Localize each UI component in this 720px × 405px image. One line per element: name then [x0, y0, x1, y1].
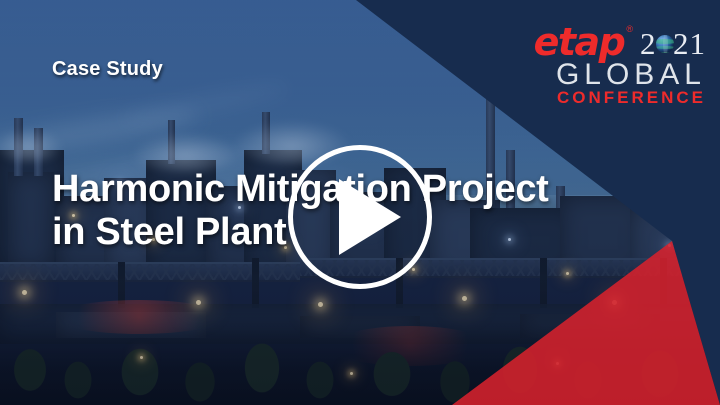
- registered-trademark-icon: ®: [626, 24, 633, 34]
- etap-global-conference-logo: etap ® 2021 GLOBAL CONFERENCE: [514, 22, 706, 107]
- year-suffix: 21: [673, 26, 706, 61]
- logo-top-row: etap ® 2021: [514, 22, 706, 58]
- logo-global-text: GLOBAL: [514, 59, 706, 91]
- year-prefix: 2: [640, 26, 657, 61]
- eyebrow-label: Case Study: [52, 58, 163, 81]
- logo-conference-text: CONFERENCE: [514, 89, 706, 108]
- play-button[interactable]: [288, 145, 432, 289]
- video-slide: Case Study Harmonic Mitigation Project i…: [0, 0, 720, 405]
- globe-icon: [656, 35, 674, 53]
- year-2021: 2021: [640, 29, 706, 58]
- play-icon: [339, 179, 401, 255]
- etap-wordmark: etap: [534, 26, 625, 58]
